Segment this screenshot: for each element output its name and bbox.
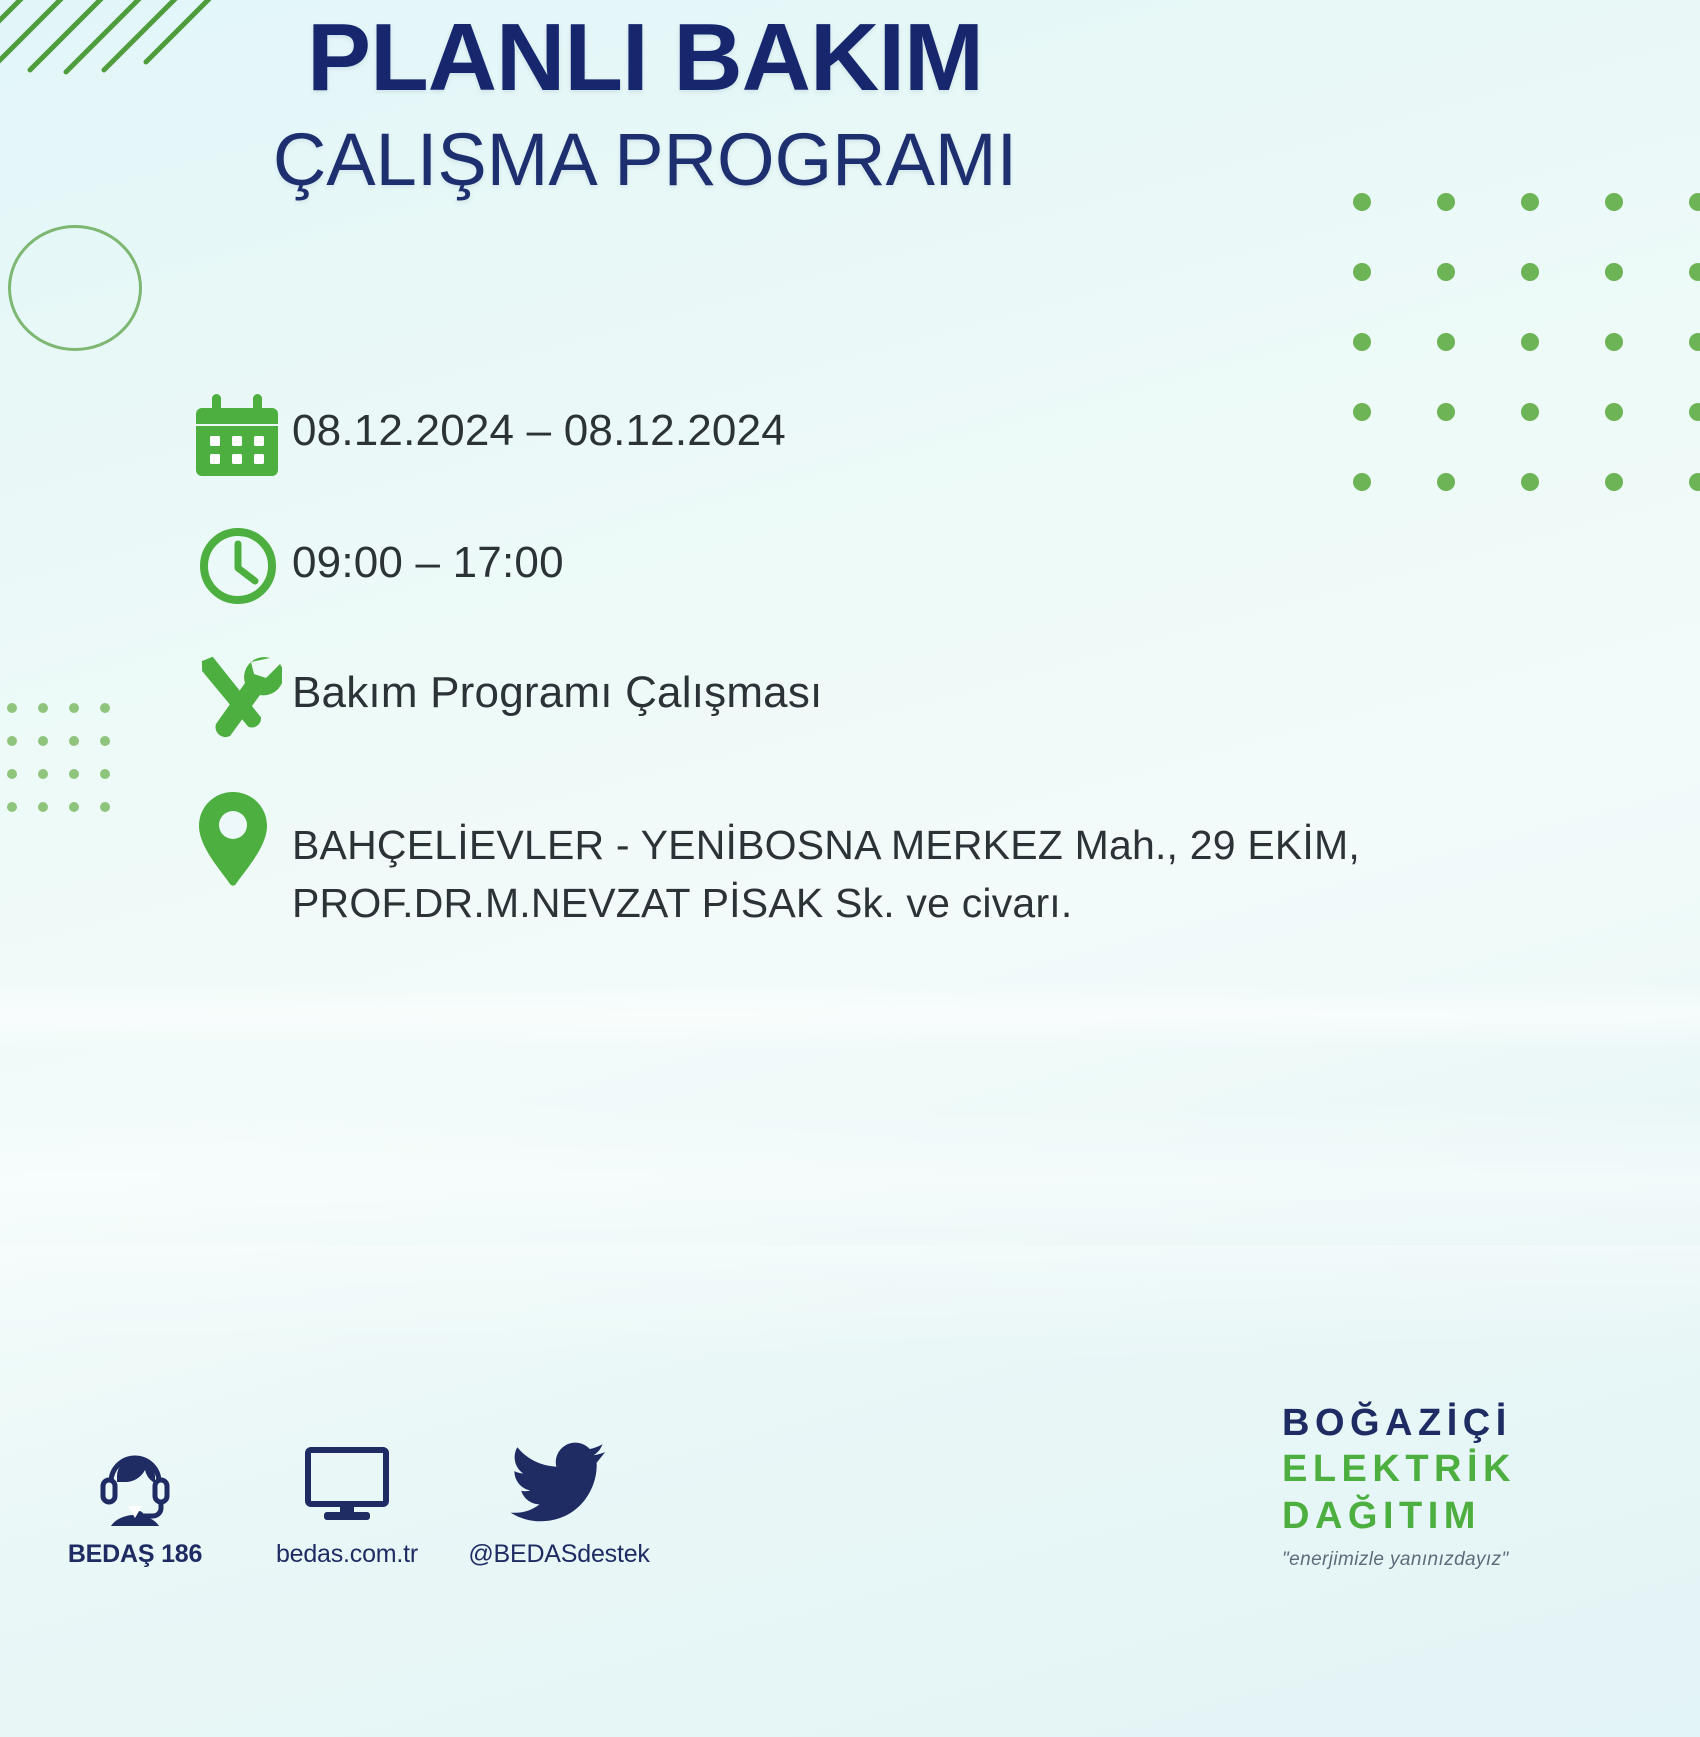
maintenance-date-range: 08.12.2024 – 08.12.2024	[292, 392, 1676, 462]
info-row-time: 09:00 – 17:00	[196, 524, 1676, 616]
decorative-light-band-2	[0, 1100, 1700, 1280]
brand-line-bogazici: BOĞAZİÇİ	[1282, 1400, 1682, 1446]
call-center-agent-icon	[95, 1440, 175, 1526]
decorative-light-band-3	[0, 1245, 1700, 1365]
tools-icon	[196, 654, 292, 746]
footer-item-website[interactable]: bedas.com.tr	[272, 1440, 422, 1569]
footer-label-twitter: @BEDASdestek	[468, 1540, 649, 1569]
page-subtitle: ÇALIŞMA PROGRAMI	[0, 117, 1290, 202]
maintenance-info-list: 08.12.2024 – 08.12.2024 09:00 – 17:00	[196, 392, 1676, 962]
footer-label-call-center: BEDAŞ 186	[68, 1540, 202, 1569]
circle-outline-decoration	[8, 225, 142, 351]
clock-icon	[196, 524, 292, 616]
address-line-2: PROF.DR.M.NEVZAT PİSAK Sk. ve civarı.	[292, 874, 1676, 932]
dot-grid-decoration-left	[4, 700, 134, 840]
footer-label-website: bedas.com.tr	[276, 1540, 418, 1569]
calendar-icon	[196, 392, 292, 484]
maintenance-location-address: BAHÇELİEVLER - YENİBOSNA MERKEZ Mah., 29…	[292, 790, 1676, 932]
location-pin-icon	[196, 790, 292, 882]
brand-logo: BOĞAZİÇİ ELEKTRİK DAĞITIM "enerjimizle y…	[1282, 1400, 1682, 1571]
brand-slogan: "enerjimizle yanınızdayız"	[1282, 1549, 1682, 1571]
maintenance-work-type: Bakım Programı Çalışması	[292, 654, 1676, 724]
card-header: PLANLI BAKIM ÇALIŞMA PROGRAMI	[0, 8, 1290, 202]
footer-item-twitter[interactable]: @BEDASdestek	[484, 1440, 634, 1569]
footer-item-call-center[interactable]: BEDAŞ 186	[60, 1440, 210, 1569]
info-row-date: 08.12.2024 – 08.12.2024	[196, 392, 1676, 484]
brand-line-elektrik: ELEKTRİK	[1282, 1446, 1682, 1492]
planned-maintenance-card: PLANLI BAKIM ÇALIŞMA PROGRAMI	[0, 0, 1700, 1737]
decorative-light-band-1	[0, 980, 1700, 1050]
monitor-icon	[302, 1440, 392, 1526]
info-row-work-type: Bakım Programı Çalışması	[196, 654, 1676, 746]
info-row-location: BAHÇELİEVLER - YENİBOSNA MERKEZ Mah., 29…	[196, 790, 1676, 932]
footer-contact-strip: BEDAŞ 186 bedas.com.tr @BEDASdestek	[60, 1440, 634, 1569]
twitter-bird-icon	[511, 1440, 607, 1526]
page-title: PLANLI BAKIM	[0, 8, 1290, 109]
brand-line-dagitim: DAĞITIM	[1282, 1493, 1682, 1539]
maintenance-time-range: 09:00 – 17:00	[292, 524, 1676, 594]
address-line-1: BAHÇELİEVLER - YENİBOSNA MERKEZ Mah., 29…	[292, 816, 1676, 874]
